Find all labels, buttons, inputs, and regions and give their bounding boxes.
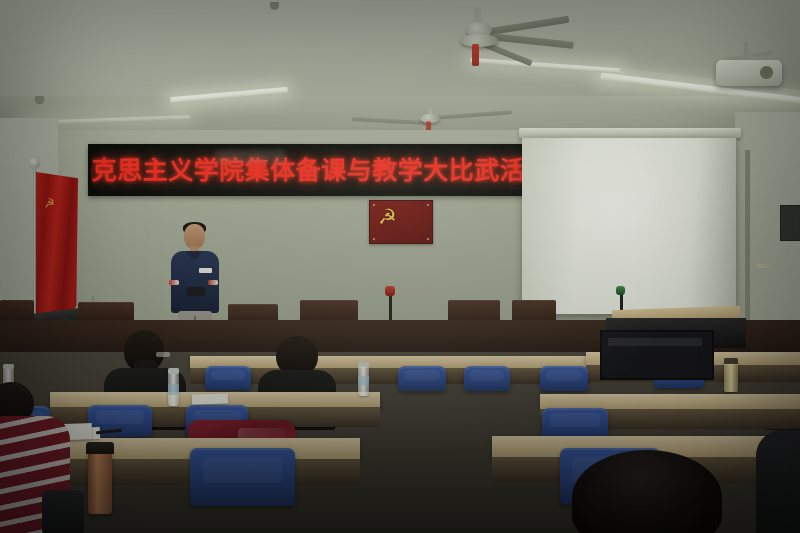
- attendee-shoulder: [756, 430, 800, 533]
- wall-control-panel[interactable]: [780, 205, 800, 241]
- led-banner-ghost-row: [215, 150, 285, 163]
- presenter-hands: [186, 287, 206, 296]
- glasses-icon: [156, 352, 170, 357]
- led-banner: 马克思主义学院集体备课与教学大比武活动: [88, 144, 529, 196]
- bottle-cap: [358, 362, 369, 367]
- chair[interactable]: [398, 366, 446, 391]
- sprinkler-head: [35, 96, 44, 103]
- student-front-left: [0, 382, 84, 533]
- door-jamb: [745, 150, 750, 340]
- chair[interactable]: [540, 366, 588, 391]
- microphone[interactable]: [616, 286, 625, 295]
- chair[interactable]: [205, 366, 251, 390]
- projection-screen: 3. 社会主义从空想到科学的飞跃 科学社会主义的理论创立 唯物史观揭示社会存在决…: [522, 138, 736, 314]
- bottle-cap: [3, 364, 14, 369]
- chair[interactable]: [190, 448, 295, 506]
- fan-ribbon: [472, 44, 479, 66]
- ceiling-fan: [390, 8, 570, 68]
- tea-jar-cap: [724, 358, 738, 364]
- chair[interactable]: [464, 366, 510, 391]
- presenter-sleeve-trim: [208, 280, 218, 285]
- attendee-head: [572, 450, 722, 533]
- attendee-front-right: [572, 450, 732, 533]
- equipment-rack-shelf: [608, 338, 702, 346]
- hammer-sickle-icon: ☭: [43, 195, 58, 210]
- screen-glow: [522, 138, 736, 314]
- tea-jar: [724, 362, 738, 392]
- led-banner-text: 马克思主义学院集体备课与教学大比武活动: [88, 158, 529, 183]
- thermos-cap: [86, 442, 114, 454]
- sprinkler-head: [270, 2, 279, 9]
- door-handle[interactable]: [757, 264, 770, 268]
- hammer-sickle-icon: ☭: [378, 205, 404, 229]
- bottle-cap: [168, 368, 179, 374]
- presenter-shirt-logo: [199, 268, 212, 273]
- screen-brand-label: [690, 130, 722, 136]
- screen-edge-shading: [522, 138, 736, 314]
- student-lap: [42, 490, 84, 533]
- classroom-photo: 马克思主义学院集体备课与教学大比武活动 ☭ 3. 社会主义从空想到科学的飞跃 科…: [0, 0, 800, 533]
- microphone[interactable]: [385, 286, 395, 296]
- ceiling-projector: [716, 58, 786, 98]
- paper-sheet: [192, 393, 228, 404]
- bottle-label: [168, 384, 179, 395]
- bottle-label: [358, 376, 369, 385]
- copper-thermos: [88, 448, 112, 514]
- presenter-sleeve-trim: [169, 280, 179, 285]
- microphone-stand: [389, 292, 392, 320]
